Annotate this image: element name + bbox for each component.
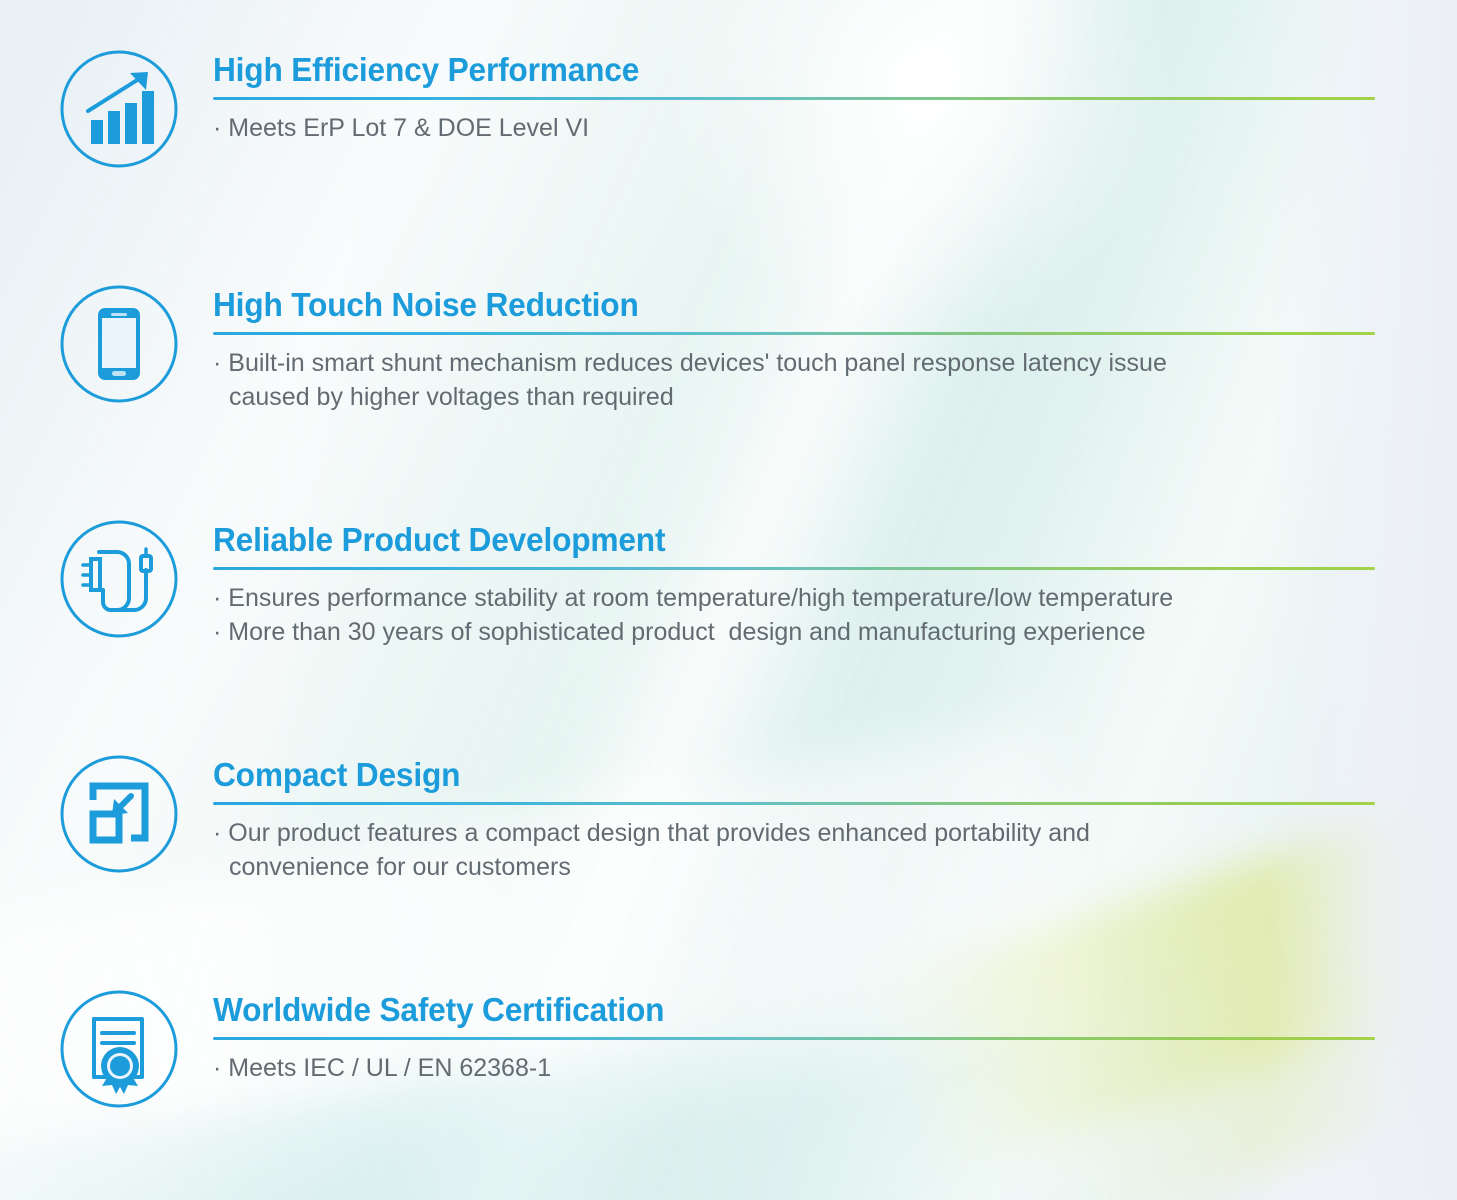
feature-title: High Touch Noise Reduction <box>213 287 1407 323</box>
feature-body: High Touch Noise Reduction · Built-in sm… <box>213 283 1457 415</box>
feature-body: Compact Design · Our product features a … <box>213 753 1457 885</box>
feature-description: · Meets IEC / UL / EN 62368-1 <box>213 1051 1413 1086</box>
feature-item-reliable-product-development: Reliable Product Development · Ensures p… <box>0 518 1457 650</box>
feature-list: High Efficiency Performance · Meets ErP … <box>0 0 1457 1200</box>
feature-item-compact-design: Compact Design · Our product features a … <box>0 753 1457 885</box>
certificate-award-icon <box>58 988 180 1110</box>
feature-description: · Ensures performance stability at room … <box>213 581 1413 650</box>
description-line: caused by higher voltages than required <box>213 380 1413 415</box>
feature-description: · Built-in smart shunt mechanism reduces… <box>213 346 1413 415</box>
feature-item-high-efficiency-performance: High Efficiency Performance · Meets ErP … <box>0 48 1457 170</box>
description-line: convenience for our customers <box>213 850 1413 885</box>
growth-chart-icon <box>58 48 180 170</box>
smartphone-icon <box>58 283 180 405</box>
description-line: · Ensures performance stability at room … <box>213 581 1413 616</box>
feature-divider <box>213 802 1375 805</box>
description-line: · More than 30 years of sophisticated pr… <box>213 615 1413 650</box>
feature-body: Worldwide Safety Certification · Meets I… <box>213 988 1457 1085</box>
feature-divider <box>213 1037 1375 1040</box>
feature-item-high-touch-noise-reduction: High Touch Noise Reduction · Built-in sm… <box>0 283 1457 415</box>
feature-divider <box>213 332 1375 335</box>
feature-divider <box>213 97 1375 100</box>
feature-body: Reliable Product Development · Ensures p… <box>213 518 1457 650</box>
description-line: · Meets IEC / UL / EN 62368-1 <box>213 1051 1413 1086</box>
description-line: · Built-in smart shunt mechanism reduces… <box>213 346 1413 381</box>
feature-title: High Efficiency Performance <box>213 52 1407 88</box>
power-adapter-icon <box>58 518 180 640</box>
feature-description: · Our product features a compact design … <box>213 816 1413 885</box>
description-line: · Our product features a compact design … <box>213 816 1413 851</box>
feature-item-worldwide-safety-certification: Worldwide Safety Certification · Meets I… <box>0 988 1457 1110</box>
feature-description: · Meets ErP Lot 7 & DOE Level VI <box>213 111 1413 146</box>
feature-title: Reliable Product Development <box>213 522 1407 558</box>
feature-title: Compact Design <box>213 757 1407 793</box>
feature-title: Worldwide Safety Certification <box>213 992 1407 1028</box>
feature-body: High Efficiency Performance · Meets ErP … <box>213 48 1457 145</box>
compact-resize-icon <box>58 753 180 875</box>
description-line: · Meets ErP Lot 7 & DOE Level VI <box>213 111 1413 146</box>
feature-divider <box>213 567 1375 570</box>
